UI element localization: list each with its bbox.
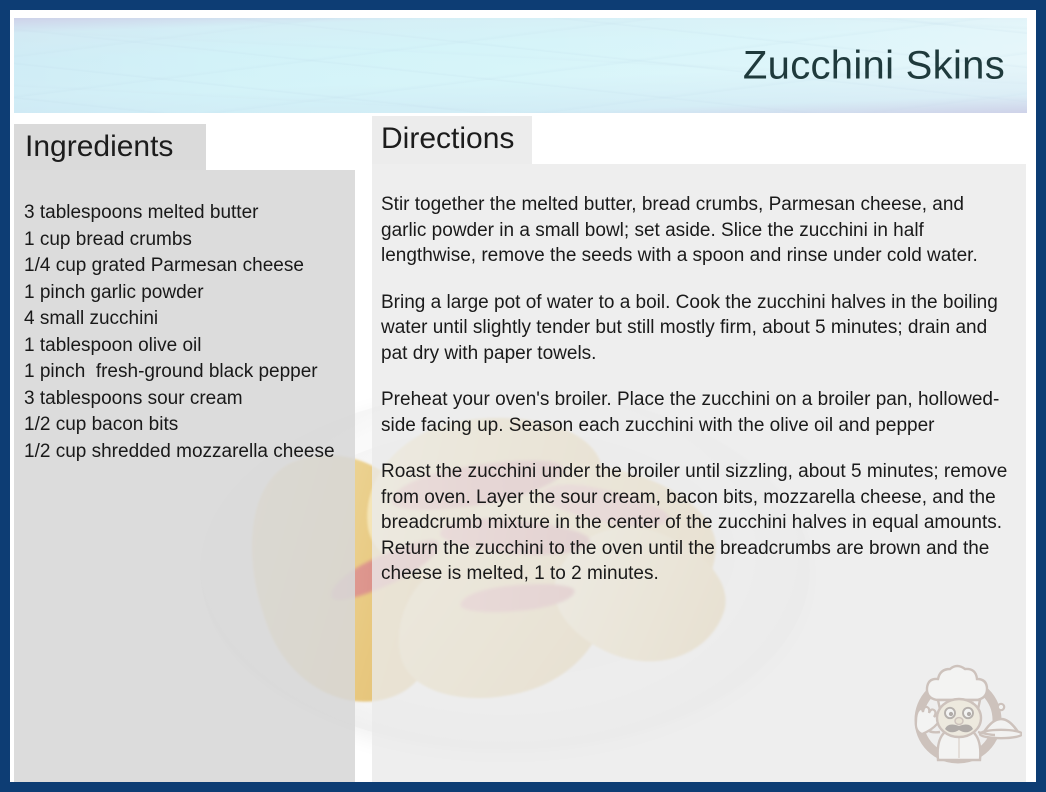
ingredient-item: 1/2 cup bacon bits (24, 412, 345, 439)
recipe-card-frame: Zucchini Skins Ingredients 3 tablespoons… (0, 0, 1046, 792)
ingredient-item: 1 pinch garlic powder (24, 280, 345, 307)
ingredient-item: 3 tablespoons melted butter (24, 200, 345, 227)
ingredient-item: 3 tablespoons sour cream (24, 386, 345, 413)
ingredient-item: 1 cup bread crumbs (24, 227, 345, 254)
ingredients-heading: Ingredients (25, 130, 173, 164)
recipe-page: Zucchini Skins Ingredients 3 tablespoons… (10, 10, 1036, 782)
directions-heading: Directions (381, 122, 514, 156)
direction-step: Roast the zucchini under the broiler unt… (381, 459, 1012, 587)
ingredient-item: 1 pinch fresh-ground black pepper (24, 359, 345, 386)
recipe-columns: Ingredients 3 tablespoons melted butter … (10, 10, 1036, 782)
ingredient-item: 1/4 cup grated Parmesan cheese (24, 253, 345, 280)
direction-step: Preheat your oven's broiler. Place the z… (381, 387, 1012, 438)
directions-section: Directions Stir together the melted butt… (372, 116, 1026, 782)
direction-step: Bring a large pot of water to a boil. Co… (381, 290, 1012, 367)
ingredients-section: Ingredients 3 tablespoons melted butter … (14, 124, 355, 782)
ingredient-item: 1 tablespoon olive oil (24, 333, 345, 360)
ingredient-item: 4 small zucchini (24, 306, 345, 333)
direction-step: Stir together the melted butter, bread c… (381, 192, 1012, 269)
ingredients-panel: 3 tablespoons melted butter 1 cup bread … (14, 170, 355, 782)
ingredients-list: 3 tablespoons melted butter 1 cup bread … (24, 200, 345, 465)
ingredient-item: 1/2 cup shredded mozzarella cheese (24, 439, 345, 466)
directions-panel: Stir together the melted butter, bread c… (372, 164, 1026, 782)
